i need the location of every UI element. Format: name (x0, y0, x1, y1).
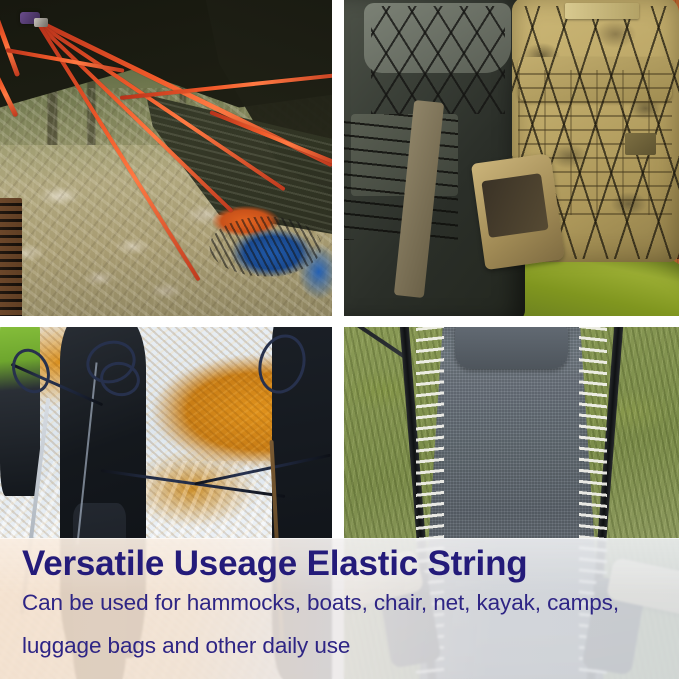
pack-name-tape (565, 3, 639, 19)
photo-tactical-backpacks (344, 0, 679, 316)
headline: Versatile Useage Elastic String (22, 544, 527, 584)
cord-anchor-clip (34, 18, 48, 27)
description-line-2: luggage bags and other daily use (22, 633, 350, 659)
chair-headrest (455, 327, 569, 369)
product-marketing-poster: Versatile Useage Elastic String Can be u… (0, 0, 679, 679)
gray-pack-cord-web (371, 6, 505, 113)
caption-overlay-band: Versatile Useage Elastic String Can be u… (0, 538, 679, 679)
description-line-1: Can be used for hammocks, boats, chair, … (22, 590, 619, 616)
left-edge-gear (0, 198, 22, 316)
velcro-patch (625, 133, 655, 155)
red-bungee-cords (0, 0, 332, 316)
photo-hammock-tarp-forest (0, 0, 332, 316)
pouch-dark-detail (481, 173, 549, 238)
